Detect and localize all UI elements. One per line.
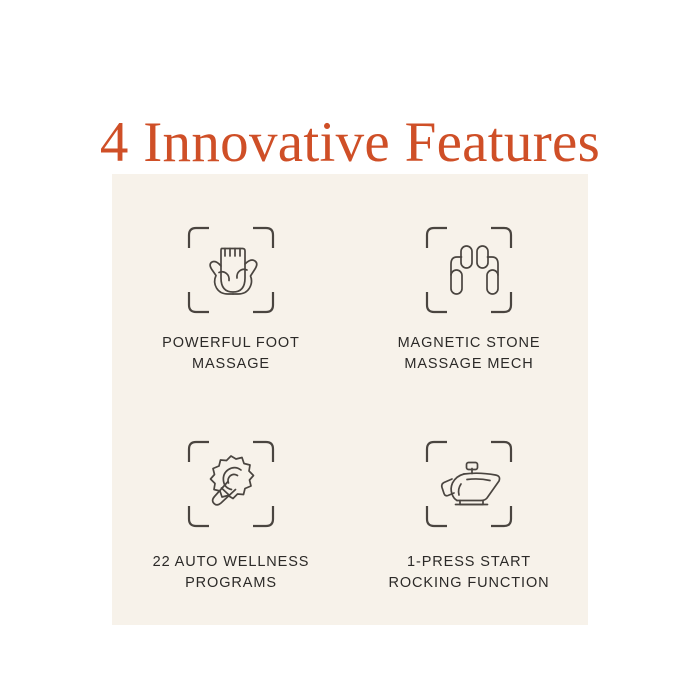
feature-panel: POWERFUL FOOT MASSAGE MAGNETIC STONE MAS… <box>112 174 588 625</box>
magnetic-stone-rollers-icon <box>423 224 515 316</box>
feature-card-rocking-function[interactable]: 1-PRESS START ROCKING FUNCTION <box>350 400 588 626</box>
feature-label: 22 AUTO WELLNESS PROGRAMS <box>131 552 331 594</box>
feature-label: 1-PRESS START ROCKING FUNCTION <box>369 552 569 594</box>
feature-card-powerful-foot-massage[interactable]: POWERFUL FOOT MASSAGE <box>112 174 350 400</box>
feature-card-auto-wellness-programs[interactable]: 22 AUTO WELLNESS PROGRAMS <box>112 400 350 626</box>
gear-wellness-program-icon <box>185 438 277 530</box>
page-title: 4 Innovative Features <box>0 108 700 178</box>
feature-card-magnetic-stone-massage-mech[interactable]: MAGNETIC STONE MASSAGE MECH <box>350 174 588 400</box>
feature-label: MAGNETIC STONE MASSAGE MECH <box>369 333 569 375</box>
rocking-massage-chair-icon <box>423 438 515 530</box>
foot-massage-hands-icon <box>185 224 277 316</box>
feature-label: POWERFUL FOOT MASSAGE <box>131 333 331 375</box>
